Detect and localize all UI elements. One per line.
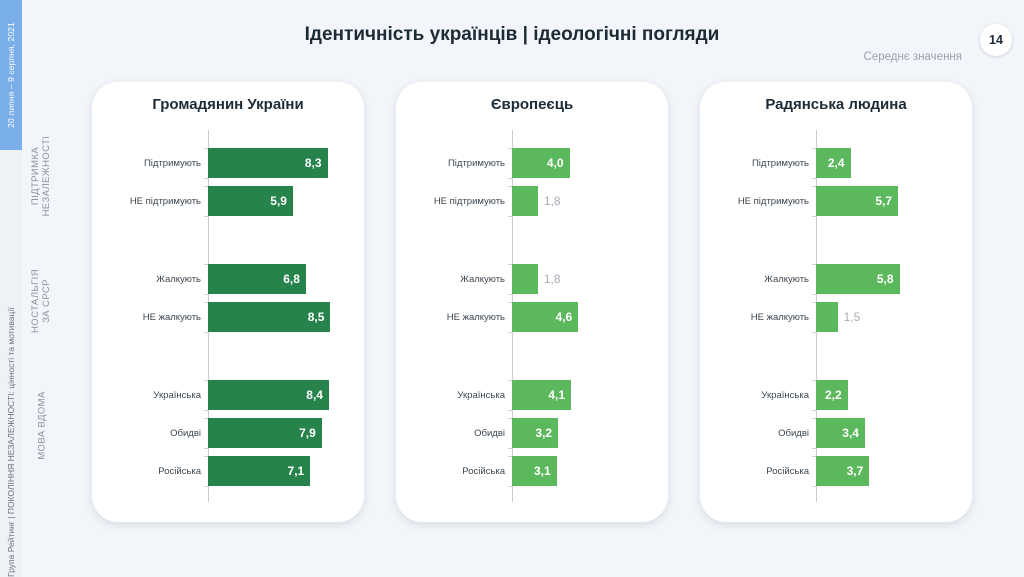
average-caption: Середнє значення (864, 51, 962, 63)
axis-tick (204, 216, 208, 217)
axis-tick (204, 178, 208, 179)
bar-category-label: Обидві (778, 428, 809, 439)
bar-row: Обидві7,9 (208, 418, 322, 448)
chart-panels: Громадянин УкраїниПідтримують8,3НЕ підтр… (92, 82, 1012, 522)
bar: 7,1 (208, 456, 310, 486)
rail-footer-label: Група Рейтинг | ПОКОЛІННЯ НЕЗАЛЕЖНОСТІ: … (0, 297, 22, 577)
bar-value-label: 3,4 (842, 426, 865, 440)
bar: 1,8 (512, 186, 538, 216)
bar-category-label: Українська (457, 390, 505, 401)
bar-row: Підтримують2,4 (816, 148, 851, 178)
bar-category-label: Жалкують (460, 274, 505, 285)
bar-value-label: 5,9 (270, 194, 293, 208)
bar-row: Підтримують8,3 (208, 148, 328, 178)
axis-tick (812, 216, 816, 217)
axis-tick (508, 486, 512, 487)
bar: 3,4 (816, 418, 865, 448)
axis-tick (508, 216, 512, 217)
bar-value-label: 1,8 (538, 272, 561, 286)
bar-category-label: Підтримують (144, 158, 201, 169)
panel-title: Громадянин України (92, 82, 364, 113)
bar-row: Російська7,1 (208, 456, 310, 486)
bar-row: Жалкують1,8 (512, 264, 538, 294)
bar-value-label: 2,2 (825, 388, 848, 402)
chart-panel: Радянська людинаПідтримують2,4НЕ підтрим… (700, 82, 972, 522)
section-label-home-language: МОВА ВДОМА (37, 371, 48, 481)
bar-value-label: 1,8 (538, 194, 561, 208)
bar-value-label: 2,4 (828, 156, 851, 170)
bar-row: Обидві3,2 (512, 418, 558, 448)
bar-category-label: НЕ підтримують (130, 196, 201, 207)
bar-value-label: 8,5 (308, 310, 331, 324)
bar: 8,5 (208, 302, 330, 332)
bar-category-label: Російська (158, 466, 201, 477)
bar-row: НЕ жалкують4,6 (512, 302, 578, 332)
bar-value-label: 4,1 (548, 388, 571, 402)
plot-area: Підтримують2,4НЕ підтримують5,7Жалкують5… (700, 130, 972, 502)
bar-row: Українська4,1 (512, 380, 571, 410)
panel-title: Європеєць (396, 82, 668, 113)
axis-tick (508, 332, 512, 333)
bar-category-label: Російська (766, 466, 809, 477)
axis-tick (508, 410, 512, 411)
bar-value-label: 4,6 (556, 310, 579, 324)
bar: 4,1 (512, 380, 571, 410)
axis-tick (204, 332, 208, 333)
bar: 8,3 (208, 148, 328, 178)
bar-row: Обидві3,4 (816, 418, 865, 448)
bar-category-label: Жалкують (156, 274, 201, 285)
axis-tick (812, 410, 816, 411)
bar: 2,2 (816, 380, 848, 410)
axis-tick (204, 448, 208, 449)
chart-panel: ЄвропеєцьПідтримують4,0НЕ підтримують1,8… (396, 82, 668, 522)
bar-value-label: 8,4 (306, 388, 329, 402)
bar-row: Російська3,1 (512, 456, 557, 486)
bar-row: Українська8,4 (208, 380, 329, 410)
bar-value-label: 1,5 (838, 310, 861, 324)
section-label-ussr-nostalgia: НОСТАЛЬГІЯ ЗА СРСР (30, 256, 52, 346)
bar-row: НЕ підтримують5,9 (208, 186, 293, 216)
bar-row: Російська3,7 (816, 456, 869, 486)
axis-tick (812, 486, 816, 487)
bar: 4,0 (512, 148, 570, 178)
bar-row: НЕ підтримують1,8 (512, 186, 538, 216)
bar-value-label: 6,8 (283, 272, 306, 286)
plot-area: Підтримують8,3НЕ підтримують5,9Жалкують6… (92, 130, 364, 502)
bar: 1,8 (512, 264, 538, 294)
bar-category-label: НЕ жалкують (751, 312, 809, 323)
bar: 3,7 (816, 456, 869, 486)
axis-tick (812, 178, 816, 179)
bar-row: НЕ підтримують5,7 (816, 186, 898, 216)
bar: 7,9 (208, 418, 322, 448)
axis-tick (204, 410, 208, 411)
axis-tick (204, 294, 208, 295)
bar-category-label: НЕ жалкують (447, 312, 505, 323)
axis-tick (508, 448, 512, 449)
axis-tick (508, 178, 512, 179)
bar-value-label: 4,0 (547, 156, 570, 170)
bar-row: Підтримують4,0 (512, 148, 570, 178)
bar-category-label: Підтримують (752, 158, 809, 169)
plot-area: Підтримують4,0НЕ підтримують1,8Жалкують1… (396, 130, 668, 502)
bar-value-label: 7,1 (288, 464, 311, 478)
bar-row: Українська2,2 (816, 380, 848, 410)
bar: 5,7 (816, 186, 898, 216)
bar: 3,1 (512, 456, 557, 486)
bar: 5,8 (816, 264, 900, 294)
bar-value-label: 3,2 (535, 426, 558, 440)
bar-row: НЕ жалкують1,5 (816, 302, 838, 332)
bar: 1,5 (816, 302, 838, 332)
bar-category-label: Жалкують (764, 274, 809, 285)
bar: 8,4 (208, 380, 329, 410)
bar-category-label: Українська (761, 390, 809, 401)
axis-tick (812, 448, 816, 449)
bar-value-label: 3,1 (534, 464, 557, 478)
bar-category-label: Українська (153, 390, 201, 401)
axis-tick (508, 294, 512, 295)
bar-value-label: 8,3 (305, 156, 328, 170)
bar-row: Жалкують5,8 (816, 264, 900, 294)
page-number-badge: 14 (980, 24, 1012, 56)
panel-title: Радянська людина (700, 82, 972, 113)
axis-tick (812, 294, 816, 295)
chart-panel: Громадянин УкраїниПідтримують8,3НЕ підтр… (92, 82, 364, 522)
bar-category-label: НЕ підтримують (434, 196, 505, 207)
bar-category-label: Підтримують (448, 158, 505, 169)
bar-value-label: 3,7 (847, 464, 870, 478)
bar-category-label: Обидві (170, 428, 201, 439)
rail-date-label: 20 липня – 9 серпня, 2021 (0, 0, 22, 150)
bar-value-label: 5,7 (875, 194, 898, 208)
bar-category-label: НЕ жалкують (143, 312, 201, 323)
left-rail: 20 липня – 9 серпня, 2021 Група Рейтинг … (0, 0, 22, 577)
bar-value-label: 7,9 (299, 426, 322, 440)
bar-category-label: Російська (462, 466, 505, 477)
bar: 5,9 (208, 186, 293, 216)
bar: 3,2 (512, 418, 558, 448)
bar-value-label: 5,8 (877, 272, 900, 286)
bar: 6,8 (208, 264, 306, 294)
bar-category-label: НЕ підтримують (738, 196, 809, 207)
axis-tick (204, 486, 208, 487)
bar-row: НЕ жалкують8,5 (208, 302, 330, 332)
section-label-independence-support: ПІДТРИМКА НЕЗАЛЕЖНОСТІ (30, 131, 52, 221)
bar: 4,6 (512, 302, 578, 332)
axis-tick (812, 332, 816, 333)
page-title: Ідентичність українців | ідеологічні пог… (0, 24, 1024, 46)
bar: 2,4 (816, 148, 851, 178)
bar-row: Жалкують6,8 (208, 264, 306, 294)
bar-category-label: Обидві (474, 428, 505, 439)
